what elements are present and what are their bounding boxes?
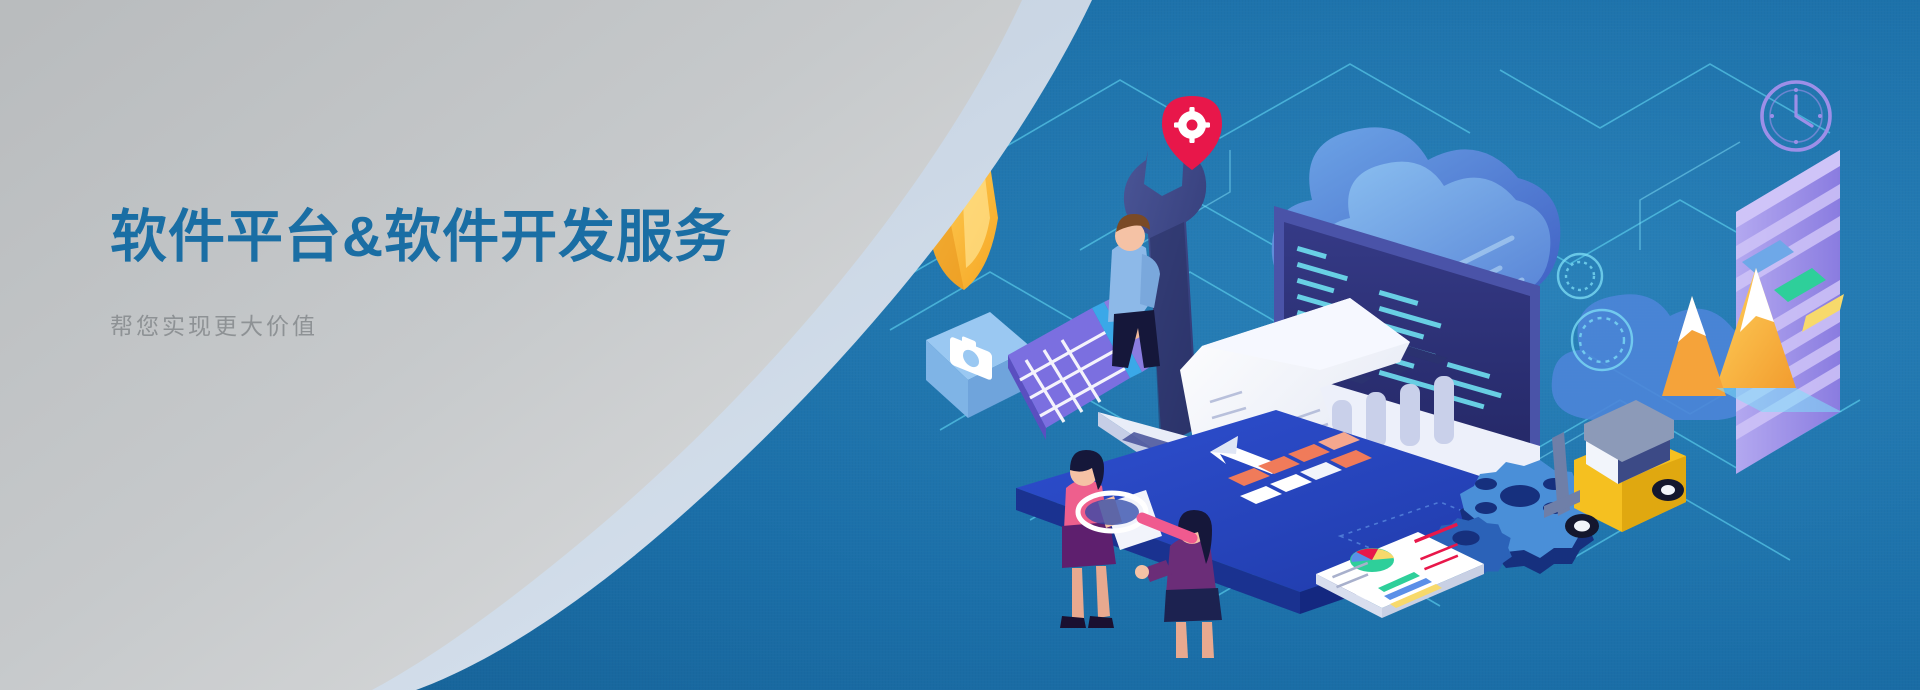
- clock-icon: [1762, 82, 1830, 150]
- page-title: 软件平台&软件开发服务: [110, 206, 830, 270]
- hero-banner: 软件平台&软件开发服务 帮您实现更大价值: [0, 0, 1920, 690]
- gray-panel: [0, 0, 1022, 690]
- curved-panel-decoration: [0, 0, 1120, 690]
- page-subtitle: 帮您实现更大价值: [110, 312, 830, 342]
- banner-copy: 软件平台&软件开发服务 帮您实现更大价值: [110, 206, 830, 342]
- gear-pin-marker-icon: [1162, 96, 1222, 170]
